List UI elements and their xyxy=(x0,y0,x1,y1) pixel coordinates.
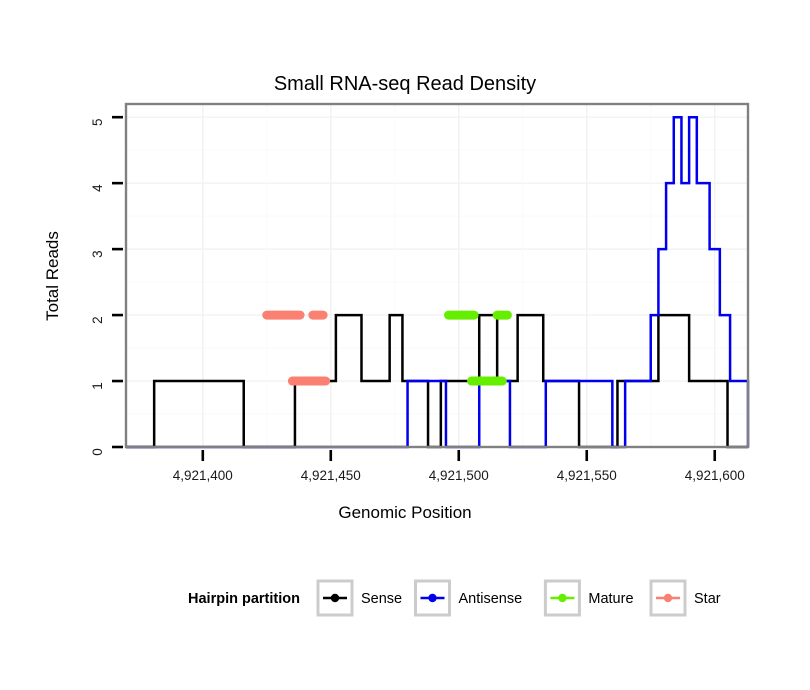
legend-label: Mature xyxy=(588,591,633,607)
chart-figure: Small RNA-seq Read Density 4,921,4004,92… xyxy=(0,0,810,690)
x-tick-label: 4,921,500 xyxy=(429,468,489,483)
x-tick-label: 4,921,550 xyxy=(557,468,617,483)
plot-panel xyxy=(126,104,748,447)
x-tick-label: 4,921,400 xyxy=(173,468,233,483)
legend-label: Sense xyxy=(361,591,402,607)
x-axis-title: Genomic Position xyxy=(338,503,471,522)
y-axis-title: Total Reads xyxy=(43,231,62,321)
y-tick-label: 4 xyxy=(90,184,105,192)
y-tick-label: 5 xyxy=(90,118,105,126)
legend-key-point xyxy=(331,594,339,602)
y-tick-label: 1 xyxy=(90,382,105,390)
legend-label: Antisense xyxy=(459,591,523,607)
legend-label: Star xyxy=(694,591,721,607)
legend-title: Hairpin partition xyxy=(188,591,300,607)
y-tick-label: 2 xyxy=(90,316,105,324)
y-tick-label: 0 xyxy=(90,448,105,456)
x-tick-label: 4,921,450 xyxy=(301,468,361,483)
legend-key-point xyxy=(558,594,566,602)
legend-key-point xyxy=(428,594,436,602)
legend-key-point xyxy=(664,594,672,602)
x-tick-label: 4,921,600 xyxy=(685,468,745,483)
y-tick-label: 3 xyxy=(90,250,105,258)
plot-background xyxy=(126,104,748,447)
chart-title: Small RNA-seq Read Density xyxy=(274,73,536,95)
